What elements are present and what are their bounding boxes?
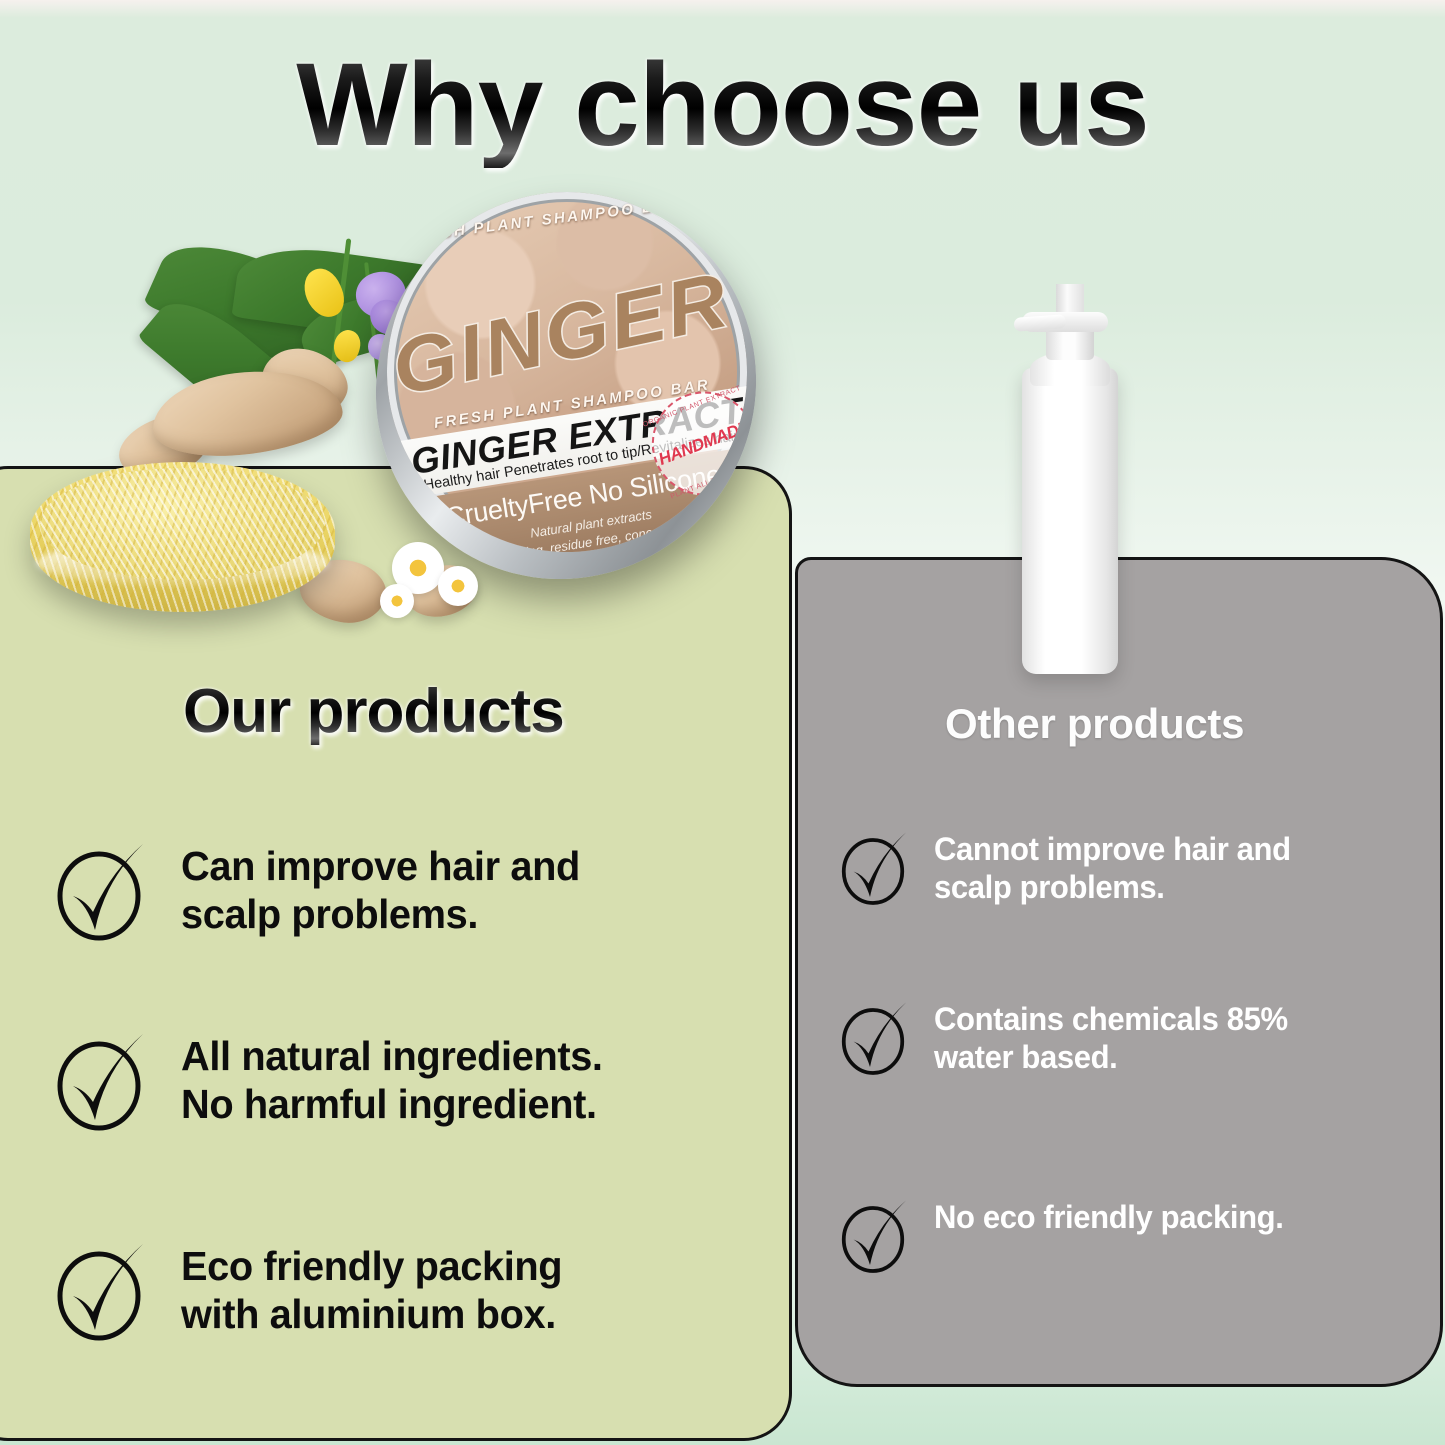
list-item-line1: Eco friendly packing: [181, 1243, 562, 1289]
list-item-line2: water based.: [934, 1039, 1117, 1075]
list-item: No eco friendly packing.: [840, 1196, 1294, 1279]
shampoo-bar-top: [40, 468, 325, 580]
list-item: Contains chemicals 85% water based.: [840, 998, 1299, 1081]
check-circle-icon: [840, 1196, 912, 1279]
page-title: Why choose us: [0, 44, 1445, 168]
list-item: Can improve hair and scalp problems.: [55, 838, 592, 947]
check-circle-icon: [55, 838, 151, 947]
list-item-line1: Can improve hair and: [181, 843, 580, 889]
list-item-line1: All natural ingredients.: [181, 1033, 603, 1079]
list-item-label: No eco friendly packing.: [934, 1198, 1283, 1236]
list-item-line2: scalp problems.: [934, 869, 1165, 905]
list-item-line1: No eco friendly packing.: [934, 1199, 1283, 1235]
check-circle-icon: [840, 828, 912, 911]
check-circle-icon: [55, 1238, 151, 1347]
list-item: All natural ingredients. No harmful ingr…: [55, 1028, 616, 1137]
list-item: Eco friendly packing with aluminium box.: [55, 1238, 574, 1347]
our-products-heading: Our products: [183, 676, 564, 747]
list-item-label: Cannot improve hair and scalp problems.: [934, 830, 1291, 907]
list-item-line1: Cannot improve hair and: [934, 831, 1291, 867]
other-products-heading: Other products: [945, 700, 1244, 748]
list-item-label: Can improve hair and scalp problems.: [181, 842, 580, 939]
tin-arc-top-text: FRESH PLANT SHAMPOO BAR: [363, 190, 722, 251]
list-item-label: Contains chemicals 85% water based.: [934, 1000, 1288, 1077]
list-item-line2: scalp problems.: [181, 891, 478, 937]
list-item-label: Eco friendly packing with aluminium box.: [181, 1242, 562, 1339]
list-item-line2: with aluminium box.: [181, 1291, 556, 1337]
list-item-label: All natural ingredients. No harmful ingr…: [181, 1032, 603, 1129]
stamp-label: HANDMADE: [656, 417, 752, 470]
check-circle-icon: [840, 998, 912, 1081]
ginger-shampoo-bar-tin: FRESH PLANT SHAMPOO BAR GINGER FRESH PLA…: [375, 196, 775, 596]
pump-bottle-body: [1022, 368, 1118, 674]
infographic-stage: Why choose us FRESH PLANT SHAMPOO BAR GI…: [0, 0, 1445, 1445]
list-item: Cannot improve hair and scalp problems.: [840, 828, 1302, 911]
daisy-flower-icon: [438, 566, 478, 606]
list-item-line1: Contains chemicals 85%: [934, 1001, 1288, 1037]
check-circle-icon: [55, 1028, 151, 1137]
tin-lid-label: FRESH PLANT SHAMPOO BAR GINGER FRESH PLA…: [361, 166, 773, 578]
list-item-line2: No harmful ingredient.: [181, 1081, 597, 1127]
daisy-flower-icon: [380, 584, 414, 618]
